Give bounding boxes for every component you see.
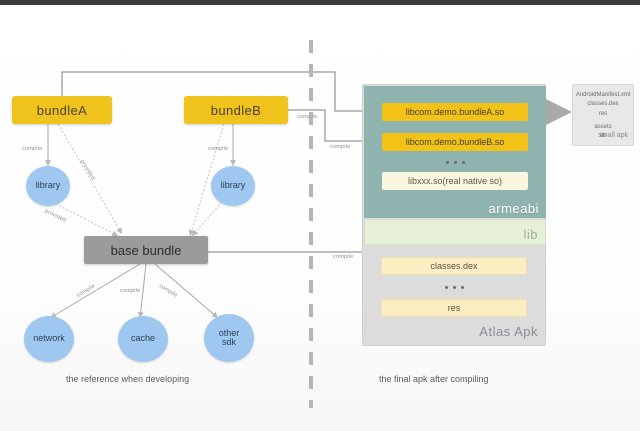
native-lib-bundleB-so[interactable]: libcom.demo.bundleB.so [382, 133, 528, 151]
node-base-bundle-label: base bundle [111, 243, 182, 258]
apk-entry-classes-dex[interactable]: classes.dex [381, 257, 527, 275]
small-apk-line-res: res [573, 110, 633, 119]
container-atlas-apk: libcom.demo.bundleA.so libcom.demo.bundl… [362, 84, 546, 346]
container-atlas-apk-label: Atlas Apk [479, 324, 538, 339]
panel-lib: lib [364, 219, 546, 245]
node-library-a-label: library [36, 181, 61, 190]
small-apk-tag: small apk [598, 131, 628, 142]
apk-entry-res[interactable]: res [381, 299, 527, 317]
edge-label-compile-base-cache: compile [120, 288, 140, 294]
vertical-dashed-divider [309, 40, 313, 408]
node-cache[interactable]: cache [118, 316, 168, 362]
edge-label-compile-bundleB-library: compile [208, 146, 228, 152]
edge-label-compile-bundleB-so: compile [330, 144, 350, 150]
native-lib-bundleA-so[interactable]: libcom.demo.bundleA.so [382, 103, 528, 121]
native-lib-bundleB-so-label: libcom.demo.bundleB.so [406, 137, 505, 147]
native-lib-real-native-so-label: libxxx.so(real native so) [408, 176, 502, 186]
node-network-label: network [33, 334, 65, 343]
node-cache-label: cache [131, 334, 155, 343]
panel-armeabi: libcom.demo.bundleA.so libcom.demo.bundl… [364, 86, 546, 218]
panel-armeabi-label: armeabi [489, 201, 539, 216]
panel-lib-label: lib [523, 227, 538, 242]
diagram-canvas: compile compile provided provided compil… [0, 0, 640, 431]
node-network[interactable]: network [24, 316, 74, 362]
node-library-b[interactable]: library [211, 166, 255, 206]
node-other-sdk[interactable]: other sdk [204, 314, 254, 362]
edge-label-compile-base-atlas: compile [333, 254, 353, 260]
node-bundleA[interactable]: bundleA [12, 96, 112, 124]
edge-label-compile-bundleA-so: compile [297, 114, 317, 120]
native-lib-real-native-so[interactable]: libxxx.so(real native so) [382, 172, 528, 190]
node-bundleB-label: bundleB [211, 103, 262, 118]
node-bundleB[interactable]: bundleB [184, 96, 288, 124]
caption-left: the reference when developing [66, 374, 189, 384]
apk-entry-classes-dex-label: classes.dex [430, 261, 477, 271]
node-library-b-label: library [221, 181, 246, 190]
small-apk-line-manifest: AndroidManifest.xml [573, 91, 633, 100]
node-base-bundle[interactable]: base bundle [84, 236, 208, 264]
native-lib-bundleA-so-label: libcom.demo.bundleA.so [406, 107, 505, 117]
node-bundleA-label: bundleA [37, 103, 88, 118]
node-other-sdk-label-line2: sdk [222, 338, 236, 347]
ellipsis-native-libs [382, 158, 528, 166]
small-apk-line-classes-dex: classes.dex [573, 100, 633, 109]
edge-label-compile-bundleA-library: compile [22, 146, 42, 152]
apk-entry-res-label: res [448, 303, 461, 313]
node-library-a[interactable]: library [26, 166, 70, 206]
caption-right: the final apk after compiling [379, 374, 489, 384]
ellipsis-apk-entries [381, 283, 527, 291]
container-small-apk: AndroidManifest.xml classes.dex res asse… [572, 84, 634, 146]
